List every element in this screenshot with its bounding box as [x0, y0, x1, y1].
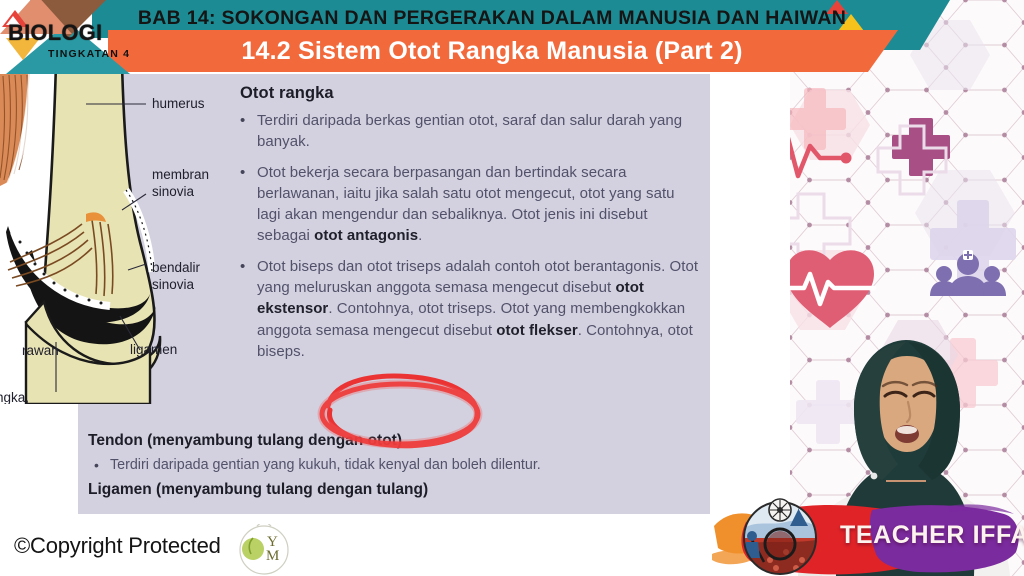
bullet-glyph: •: [240, 110, 257, 153]
tendon-ligamen-block: Tendon (menyambung tulang dengan otot) •…: [88, 430, 708, 501]
svg-text:M: M: [266, 548, 279, 564]
subject-logo-badge: BIOLOGI TINGKATAN 4: [0, 0, 130, 74]
figure-label-membran-sinovia: sinovia: [152, 184, 194, 200]
joint-diagram-figure: humerus membran sinovia bendalir sinovia…: [0, 74, 240, 404]
slide-screenshot: humerus membran sinovia bendalir sinovia…: [0, 0, 1024, 576]
copyright-text: ©Copyright Protected: [14, 533, 221, 559]
figure-label-humerus: humerus: [152, 96, 205, 112]
bullet-glyph: •: [240, 256, 257, 362]
watermark-logo: Y M: [235, 524, 293, 576]
figure-label-ligamen: ligamen: [130, 342, 177, 358]
bullet-glyph: •: [88, 455, 110, 475]
tendon-heading: Tendon (menyambung tulang dengan otot): [88, 430, 708, 452]
tendon-bullet-text: Terdiri daripada gentian yang kukuh, tid…: [110, 455, 541, 475]
figure-label-bendalir: bendalir: [152, 260, 200, 276]
content-bullet-1-text: Terdiri daripada berkas gentian otot, sa…: [257, 110, 700, 153]
figure-label-rangka-clipped: ngka,: [0, 390, 29, 404]
content-bullet-3-text: Otot biseps dan otot triseps adalah cont…: [257, 256, 700, 362]
content-bullet-2-text: Otot bekerja secara berpasangan dan bert…: [257, 162, 700, 247]
chapter-title: BAB 14: SOKONGAN DAN PERGERAKAN DALAM MA…: [112, 3, 872, 35]
logo-title: BIOLOGI: [8, 20, 128, 46]
logo-subtitle: TINGKATAN 4: [48, 48, 138, 60]
topic-title: 14.2 Sistem Otot Rangka Manusia (Part 2): [112, 33, 872, 71]
figure-label-rawan: rawan: [22, 343, 59, 359]
slide-header: BAB 14: SOKONGAN DAN PERGERAKAN DALAM MA…: [0, 0, 1024, 72]
content-bullet-3: • Otot biseps dan otot triseps adalah co…: [240, 256, 700, 362]
teacher-banner: TEACHER IFFAH: [712, 496, 1024, 576]
figure-label-bendalir-sinovia: sinovia: [152, 277, 194, 293]
ligamen-heading: Ligamen (menyambung tulang dengan tulang…: [88, 479, 708, 501]
tendon-bullet: • Terdiri daripada gentian yang kukuh, t…: [88, 455, 708, 475]
figure-label-membran: membran: [152, 167, 209, 183]
content-bullet-2: • Otot bekerja secara berpasangan dan be…: [240, 162, 700, 247]
content-heading: Otot rangka: [240, 82, 700, 104]
content-text-column: Otot rangka • Terdiri daripada berkas ge…: [240, 82, 700, 371]
content-bullet-1: • Terdiri daripada berkas gentian otot, …: [240, 110, 700, 153]
header-teal-tail: [880, 0, 950, 50]
bullet-glyph: •: [240, 162, 257, 247]
teacher-name-label: TEACHER IFFAH: [840, 514, 1020, 556]
